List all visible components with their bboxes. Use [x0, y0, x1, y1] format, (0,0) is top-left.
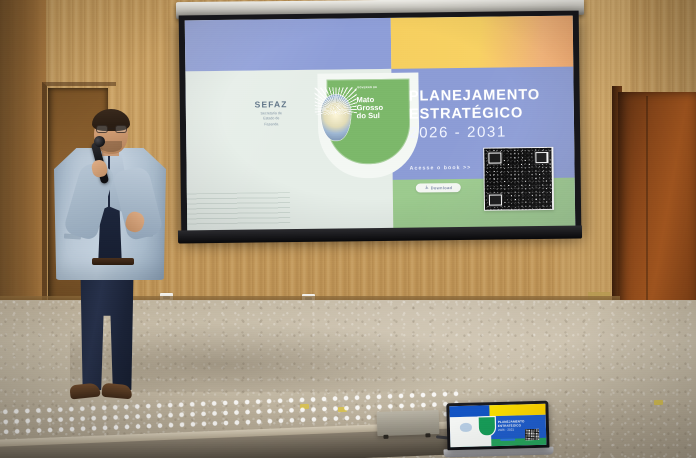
qr-code	[483, 147, 554, 211]
glasses-icon	[96, 125, 127, 133]
slide-years: 2026 - 2031	[409, 123, 507, 141]
door-right-edge	[646, 96, 648, 334]
laptop-lid: PLANEJAMENTO ESTRATÉGICO 2026 - 2031	[446, 401, 549, 451]
wood-wall-left-shadow	[0, 0, 46, 300]
download-button: Download	[416, 183, 462, 193]
presenter-shoe-left	[69, 382, 100, 399]
presenter-belt	[92, 258, 134, 265]
laptop-qr-code	[525, 429, 540, 440]
laptop-slide-title: PLANEJAMENTO ESTRATÉGICO	[498, 419, 525, 428]
presenter-trousers	[78, 262, 136, 390]
presentation-slide: SEFAZ Secretaria de Estado de Fazenda GO…	[185, 16, 576, 232]
download-button-label: Download	[431, 185, 453, 190]
slide-title-line2: ESTRATÉGICO	[409, 104, 541, 124]
qr-finder-top-left	[487, 151, 502, 164]
laptop-shield-icon	[478, 417, 495, 435]
projection-screen: SEFAZ Secretaria de Estado de Fazenda GO…	[185, 16, 576, 232]
sefaz-acronym: SEFAZ	[232, 99, 310, 110]
slide-block-blue	[185, 18, 391, 71]
laptop-slide-years: 2026 - 2031	[498, 428, 514, 432]
floor-equipment-box	[377, 410, 440, 436]
laptop: PLANEJAMENTO ESTRATÉGICO 2026 - 2031	[442, 401, 553, 458]
qr-finder-top-right	[534, 151, 549, 164]
slide-title-line1: PLANEJAMENTO	[409, 86, 541, 106]
shield-kicker: GOVERNO DE	[357, 86, 377, 89]
floor-marker	[654, 400, 663, 405]
slide-access-label: Acesse o book >>	[410, 165, 472, 172]
government-shield-logo: GOVERNO DE Mato Grosso do Sul	[317, 72, 419, 179]
sefaz-subtitle-line3: Fazenda	[233, 122, 311, 129]
qr-finder-bottom-left	[488, 194, 503, 207]
presenter	[52, 112, 170, 402]
download-icon	[425, 186, 429, 190]
laptop-screen: PLANEJAMENTO ESTRATÉGICO 2026 - 2031	[449, 404, 546, 447]
slide-decor-lines	[187, 192, 290, 225]
photo-scene: SEFAZ Secretaria de Estado de Fazenda GO…	[0, 0, 696, 458]
slide-title: PLANEJAMENTO ESTRATÉGICO	[409, 86, 541, 125]
shield-line3: do Sul	[357, 111, 384, 119]
sefaz-logo: SEFAZ Secretaria de Estado de Fazenda	[232, 99, 310, 128]
